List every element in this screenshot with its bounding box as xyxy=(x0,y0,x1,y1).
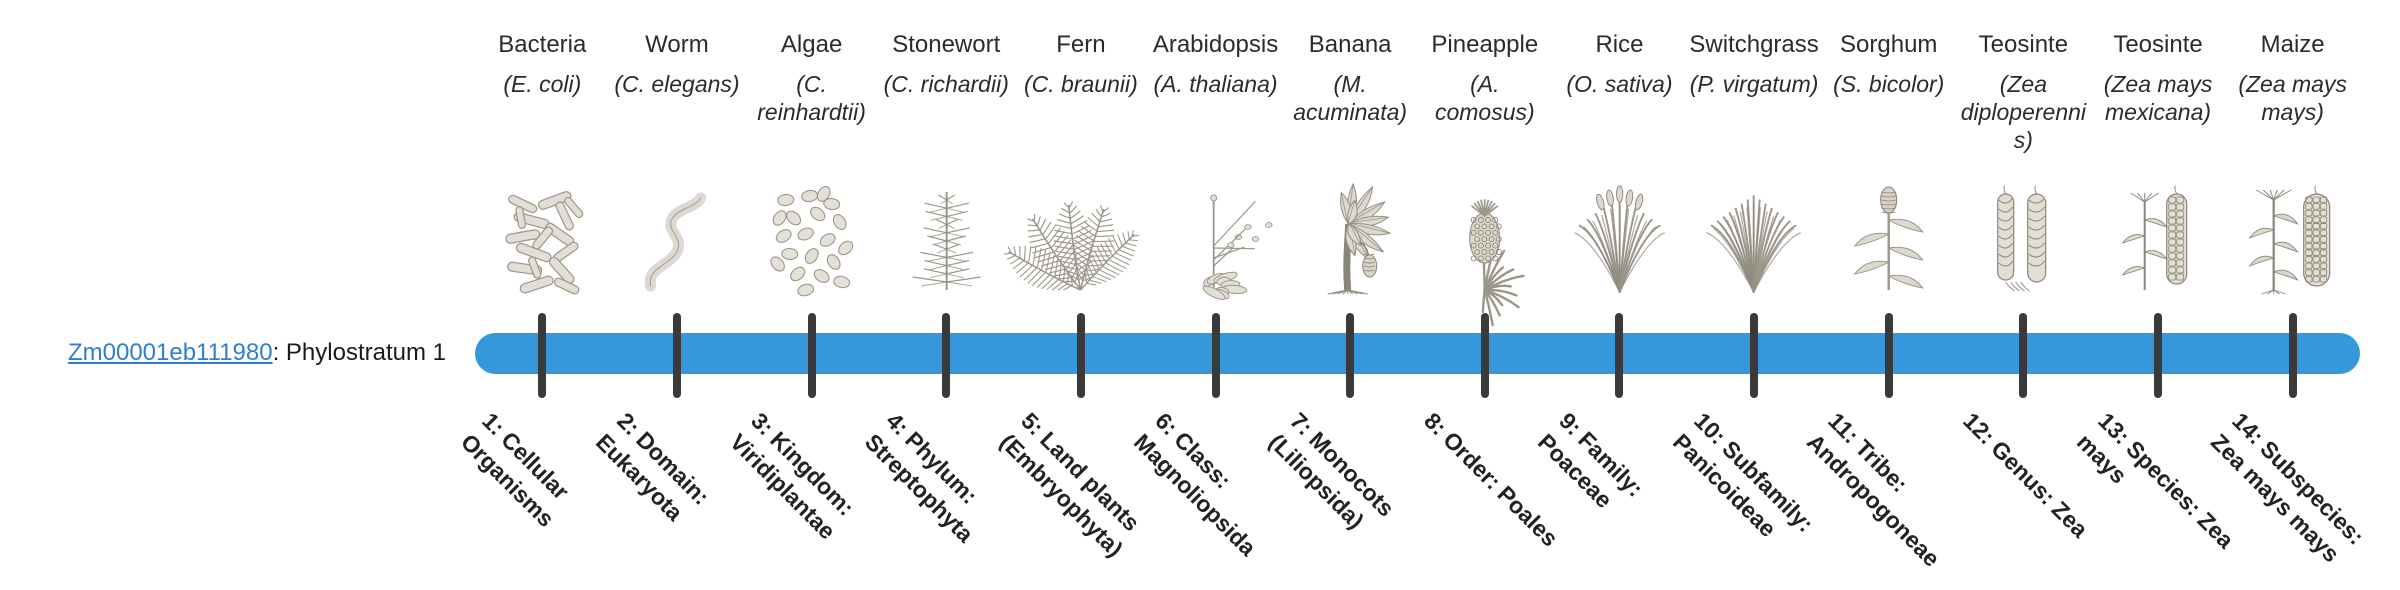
stratum-cell: 11: Tribe: Andropogoneae xyxy=(1821,400,1956,580)
species-common-name: Bacteria xyxy=(498,30,586,60)
stratum-cell: 2: Domain: Eukaryota xyxy=(610,400,745,580)
stratum-cell: 1: Cellular Organisms xyxy=(475,400,610,580)
stratum-name: Monocots (Liliopsida) xyxy=(1264,426,1399,533)
pineapple-icon xyxy=(1417,186,1552,294)
species-common-name: Sorghum xyxy=(1840,30,1937,60)
stratum-tick[interactable] xyxy=(2289,313,2297,398)
teosinte-mexicana-icon xyxy=(2091,186,2226,294)
stratum-tick[interactable] xyxy=(942,313,950,398)
stratum-name: Class: Magnoliopsida xyxy=(1129,426,1261,560)
stratum-tick[interactable] xyxy=(2019,313,2027,398)
stratum-name: Kingdom: Viridiplantae xyxy=(725,426,859,544)
stratum-cell: 6: Class: Magnoliopsida xyxy=(1148,400,1283,580)
sorghum-icon xyxy=(1821,186,1956,294)
species-scientific-name: (C. braunii) xyxy=(1024,70,1138,98)
species-column: Pineapple(A. comosus) xyxy=(1417,30,1552,300)
stratum-cell: 7: Monocots (Liliopsida) xyxy=(1283,400,1418,580)
species-column: Sorghum(S. bicolor) xyxy=(1821,30,1956,300)
stratum-tick[interactable] xyxy=(1885,313,1893,398)
gene-label-separator: : xyxy=(273,339,286,366)
stratum-label-row: 1: Cellular Organisms2: Domain: Eukaryot… xyxy=(475,400,2360,580)
species-scientific-name: (M. acuminata) xyxy=(1283,70,1418,126)
species-column: Arabidopsis(A. thaliana) xyxy=(1148,30,1283,300)
stratum-tick[interactable] xyxy=(1615,313,1623,398)
species-scientific-name: (Zea mays mays) xyxy=(2225,70,2360,126)
species-common-name: Switchgrass xyxy=(1689,30,1818,60)
species-column: Stonewort(C. richardii) xyxy=(879,30,1014,300)
species-scientific-name: (Zea mays mexicana) xyxy=(2091,70,2226,126)
worm-icon xyxy=(610,186,745,294)
species-common-name: Fern xyxy=(1056,30,1105,60)
species-scientific-name: (C. elegans) xyxy=(614,70,739,98)
bacteria-icon xyxy=(475,186,610,294)
species-common-name: Teosinte xyxy=(2113,30,2202,60)
species-common-name: Pineapple xyxy=(1431,30,1538,60)
species-common-name: Teosinte xyxy=(1979,30,2068,60)
stratum-cell: 3: Kingdom: Viridiplantae xyxy=(744,400,879,580)
arabidopsis-icon xyxy=(1148,186,1283,294)
stratum-tick[interactable] xyxy=(538,313,546,398)
species-scientific-name: (O. sativa) xyxy=(1566,70,1672,98)
species-column: Banana(M. acuminata) xyxy=(1283,30,1418,300)
species-scientific-name: (C. reinhardtii) xyxy=(744,70,879,126)
species-column: Switchgrass(P. virgatum) xyxy=(1687,30,1822,300)
species-scientific-name: (S. bicolor) xyxy=(1833,70,1944,98)
stratum-name: Phylum: Streptophyta xyxy=(860,426,983,547)
phylostratum-figure: Zm00001eb111980: Phylostratum 1 Bacteria… xyxy=(0,0,2400,580)
maize-icon xyxy=(2225,186,2360,294)
stratum-name: Subspecies: Zea mays mays xyxy=(2206,429,2369,568)
gene-id-link[interactable]: Zm00001eb111980 xyxy=(68,339,273,366)
species-scientific-name: (P. virgatum) xyxy=(1690,70,1819,98)
species-scientific-name: (Zea diploperennis) xyxy=(1956,70,2091,154)
stratum-cell: 12: Genus: Zea xyxy=(1956,400,2091,580)
species-common-name: Worm xyxy=(645,30,709,60)
stratum-name: Tribe: Andropogoneae xyxy=(1802,429,1945,572)
stratum-cell: 14: Subspecies: Zea mays mays xyxy=(2225,400,2360,580)
species-column: Worm(C. elegans) xyxy=(610,30,745,300)
stratum-name: Domain: Eukaryota xyxy=(591,426,715,525)
phylostratum-bar[interactable] xyxy=(475,333,2360,374)
species-common-name: Arabidopsis xyxy=(1153,30,1278,60)
species-common-name: Rice xyxy=(1595,30,1643,60)
species-column: Algae(C. reinhardtii) xyxy=(744,30,879,300)
species-column: Bacteria(E. coli) xyxy=(475,30,610,300)
stonewort-icon xyxy=(879,186,1014,294)
stratum-tick[interactable] xyxy=(1077,313,1085,398)
banana-icon xyxy=(1283,186,1418,294)
stratum-name: Land plants (Embryophyta) xyxy=(995,426,1145,561)
stratum-cell: 5: Land plants (Embryophyta) xyxy=(1014,400,1149,580)
stratum-name: Subfamily: Panicoideae xyxy=(1668,429,1819,542)
stratum-tick[interactable] xyxy=(1481,313,1489,398)
species-column: Teosinte(Zea diploperennis) xyxy=(1956,30,2091,300)
stratum-cell: 10: Subfamily: Panicoideae xyxy=(1687,400,1822,580)
species-scientific-name: (A. comosus) xyxy=(1417,70,1552,126)
stratum-cell: 8: Order: Poales xyxy=(1417,400,1552,580)
stratum-number: 12: xyxy=(1958,407,2000,449)
stratum-name: Cellular Organisms xyxy=(456,426,574,532)
stratum-tick[interactable] xyxy=(1346,313,1354,398)
species-scientific-name: (A. thaliana) xyxy=(1154,70,1278,98)
species-scientific-name: (E. coli) xyxy=(503,70,581,98)
species-common-name: Algae xyxy=(781,30,842,60)
stratum-cell: 4: Phylum: Streptophyta xyxy=(879,400,1014,580)
stratum-tick[interactable] xyxy=(1212,313,1220,398)
stratum-tick[interactable] xyxy=(808,313,816,398)
fern-icon xyxy=(1014,186,1149,294)
algae-icon xyxy=(744,186,879,294)
phylostratum-value: Phylostratum 1 xyxy=(286,339,446,366)
stratum-tick[interactable] xyxy=(1750,313,1758,398)
species-common-name: Stonewort xyxy=(892,30,1000,60)
switchgrass-icon xyxy=(1687,186,1822,294)
stratum-tick[interactable] xyxy=(2154,313,2162,398)
rice-icon xyxy=(1552,186,1687,294)
stratum-cell: 13: Species: Zea mays xyxy=(2091,400,2226,580)
teosinte-diploperennis-icon xyxy=(1956,186,2091,294)
species-common-name: Banana xyxy=(1309,30,1392,60)
stratum-tick[interactable] xyxy=(673,313,681,398)
species-common-name: Maize xyxy=(2261,30,2325,60)
species-column: Rice(O. sativa) xyxy=(1552,30,1687,300)
species-column: Fern(C. braunii) xyxy=(1014,30,1149,300)
gene-phylostratum-label: Zm00001eb111980: Phylostratum 1 xyxy=(0,338,460,368)
species-column: Teosinte(Zea mays mexicana) xyxy=(2091,30,2226,300)
species-scientific-name: (C. richardii) xyxy=(884,70,1009,98)
species-column: Maize(Zea mays mays) xyxy=(2225,30,2360,300)
stratum-label[interactable]: 14: Subspecies: Zea mays mays xyxy=(2205,406,2389,590)
species-header-row: Bacteria(E. coli)Worm(C. elegans)Algae(C… xyxy=(475,30,2360,300)
stratum-cell: 9: Family: Poaceae xyxy=(1552,400,1687,580)
